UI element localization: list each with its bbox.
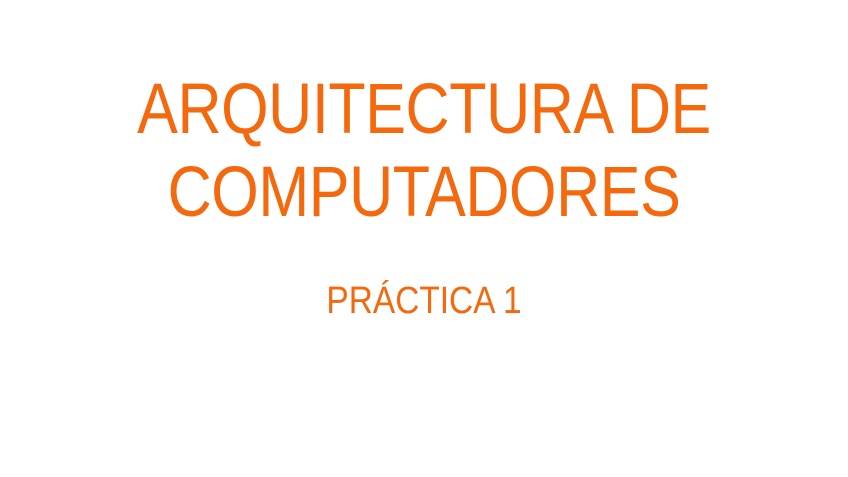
subtitle-placeholder[interactable]: PRÁCTICA 1 [0,279,848,323]
title-placeholder[interactable]: ARQUITECTURA DE COMPUTADORES [0,68,848,234]
slide-subtitle: PRÁCTICA 1 [51,279,797,323]
presentation-title-slide: ARQUITECTURA DE COMPUTADORES PRÁCTICA 1 [0,0,848,477]
slide-body-empty-area [0,330,848,477]
page-title: ARQUITECTURA DE COMPUTADORES [59,68,788,234]
